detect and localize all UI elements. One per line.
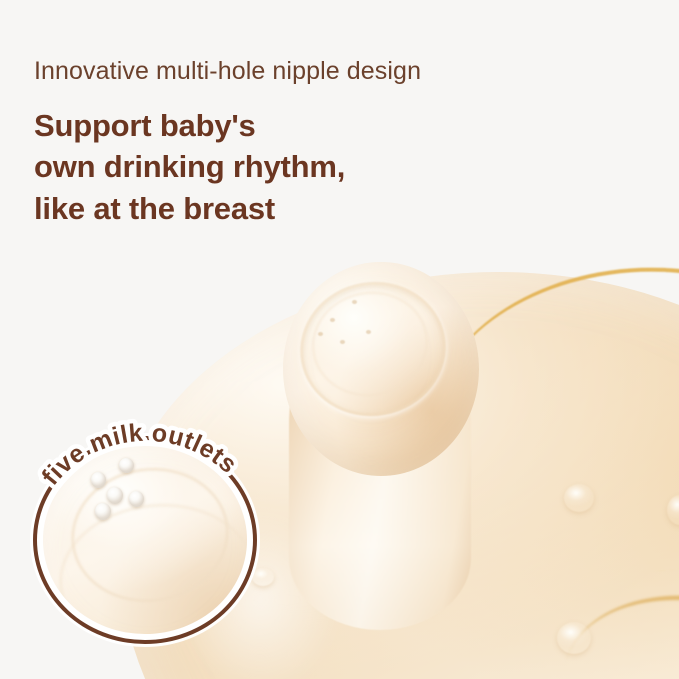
milk-outlet-4 xyxy=(129,491,144,507)
surface-bump-1 xyxy=(564,484,594,512)
surface-bump-3 xyxy=(557,622,591,654)
milk-outlet-1 xyxy=(91,472,106,488)
milk-outlet-5 xyxy=(95,503,111,520)
eyebrow-text: Innovative multi-hole nipple design xyxy=(34,56,634,87)
teat-hole-4 xyxy=(340,340,345,344)
copy-block: Innovative multi-hole nipple design Supp… xyxy=(34,56,634,229)
milk-outlet-2 xyxy=(119,458,134,473)
teat-hole-1 xyxy=(352,300,357,304)
magnifier-callout xyxy=(33,436,257,644)
headline-line-3: like at the breast xyxy=(34,188,634,229)
product-feature-image: five milk outlets five milk outlets Inno… xyxy=(0,0,679,679)
magnifier-ring xyxy=(33,436,257,644)
teat-hole-5 xyxy=(318,332,323,336)
headline-line-1: Support baby's xyxy=(34,105,634,146)
teat-hole-2 xyxy=(330,318,335,322)
milk-outlet-3 xyxy=(107,487,123,504)
headline-text: Support baby's own drinking rhythm, like… xyxy=(34,105,634,229)
headline-line-2: own drinking rhythm, xyxy=(34,146,634,187)
magnifier-viewport xyxy=(43,446,247,634)
teat-hole-3 xyxy=(366,330,371,334)
